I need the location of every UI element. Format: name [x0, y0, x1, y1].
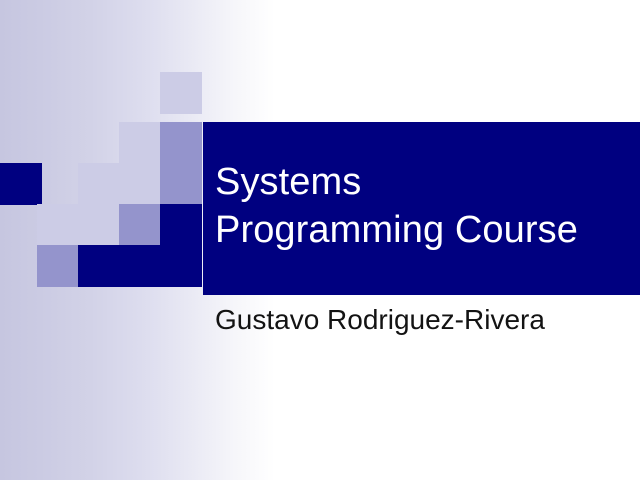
- decorative-square-mid: [119, 204, 161, 246]
- decorative-square-light: [78, 204, 120, 246]
- decorative-square-light: [78, 163, 120, 205]
- decorative-square-navy: [160, 204, 202, 246]
- decorative-square-mid: [37, 245, 79, 287]
- decorative-square-light: [37, 204, 79, 246]
- presentation-slide: Systems Programming Course Gustavo Rodri…: [0, 0, 640, 480]
- decorative-square-navy: [0, 163, 42, 205]
- decorative-square-light: [119, 122, 161, 164]
- decorative-square-light: [119, 163, 161, 205]
- slide-subtitle-author: Gustavo Rodriguez-Rivera: [215, 302, 635, 338]
- decorative-square-navy: [119, 245, 161, 287]
- slide-title: Systems Programming Course: [215, 158, 635, 254]
- decorative-square-mid: [160, 122, 202, 164]
- decorative-square-mid: [160, 163, 202, 205]
- decorative-square-navy: [160, 245, 202, 287]
- decorative-square-navy: [78, 245, 120, 287]
- decorative-square-light: [160, 72, 202, 114]
